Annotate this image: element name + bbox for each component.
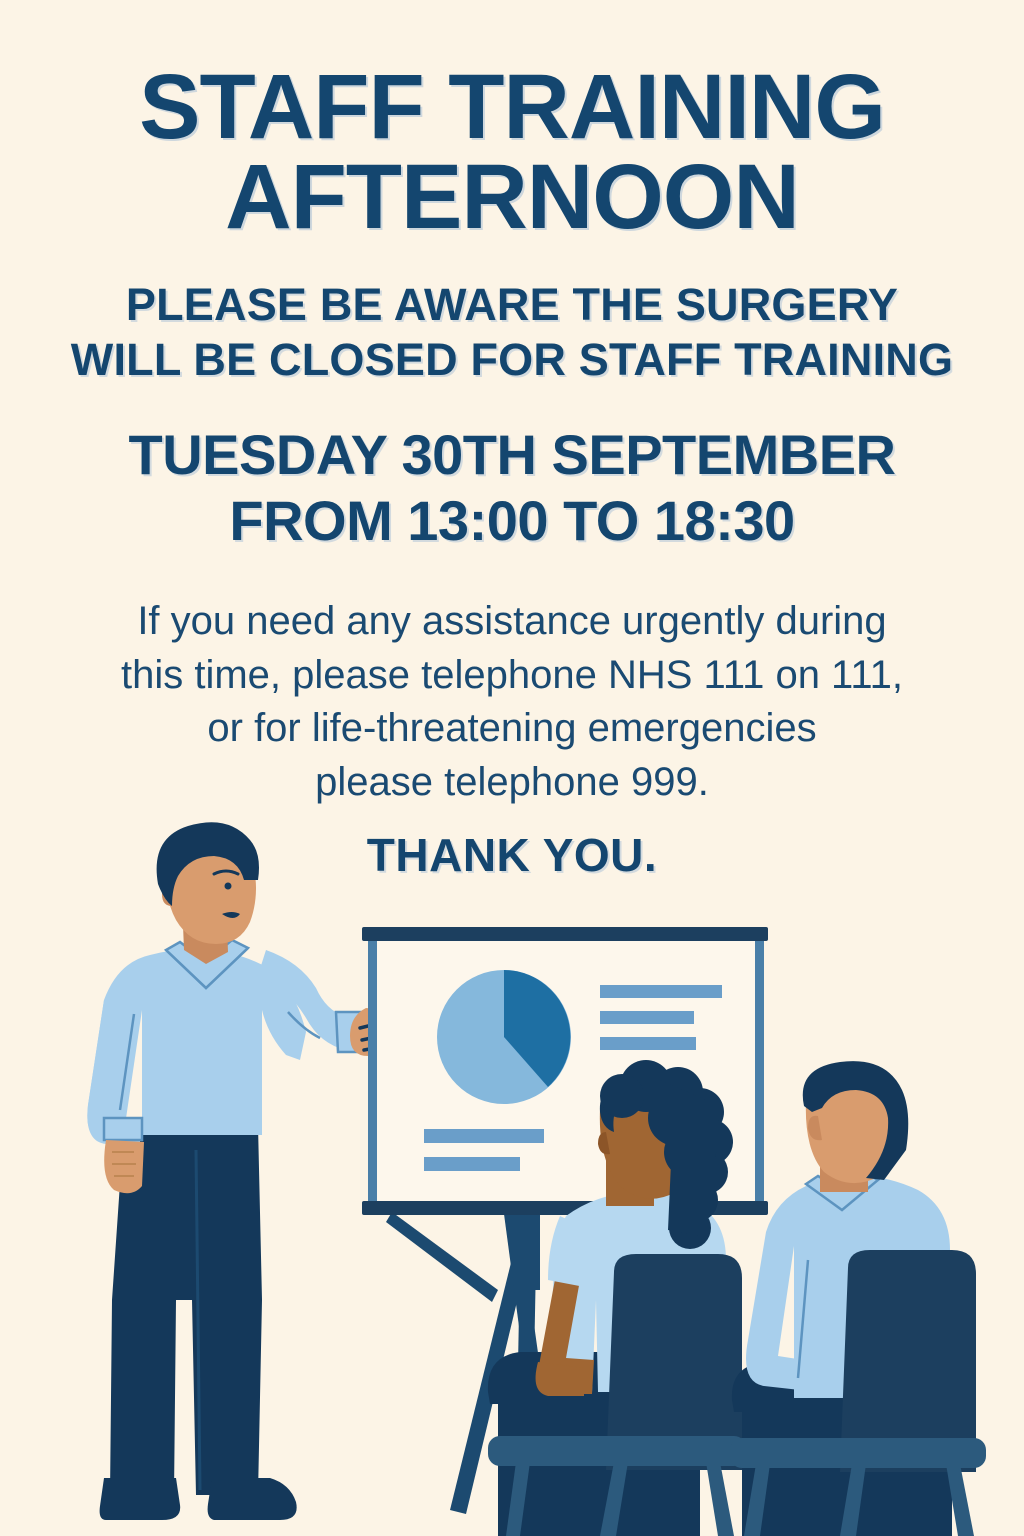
body-line-4: please telephone 999. (0, 756, 1024, 810)
page-title: STAFF TRAINING AFTERNOON (0, 0, 1024, 242)
board-text-bar-3 (600, 1037, 696, 1050)
woman-hand (536, 1362, 584, 1396)
pie-chart (437, 970, 571, 1104)
board-text-bar-2 (600, 1011, 694, 1024)
seated-man-chair-seat (730, 1438, 986, 1468)
whiteboard-rail-left (368, 938, 377, 1208)
body-line-2: this time, please telephone NHS 111 on 1… (0, 649, 1024, 703)
woman-chair-seat (488, 1436, 746, 1466)
date-time-heading: TUESDAY 30TH SEPTEMBER FROM 13:00 TO 18:… (0, 388, 1024, 553)
subtitle-line-1: PLEASE BE AWARE THE SURGERY (0, 278, 1024, 333)
tripod-brace-left (386, 1212, 498, 1302)
presenter-shoe-left (100, 1478, 181, 1520)
subtitle: PLEASE BE AWARE THE SURGERY WILL BE CLOS… (0, 242, 1024, 388)
board-text-bar-4 (424, 1129, 544, 1143)
title-line-1: STAFF TRAINING (0, 62, 1024, 152)
time-line: FROM 13:00 TO 18:30 (0, 488, 1024, 554)
whiteboard-rail-right (755, 938, 764, 1208)
body-paragraph: If you need any assistance urgently duri… (0, 553, 1024, 809)
title-line-2: AFTERNOON (0, 152, 1024, 242)
presenter-shoe-right (208, 1478, 297, 1520)
subtitle-line-2: WILL BE CLOSED FOR STAFF TRAINING (0, 333, 1024, 388)
presenter-eye (225, 883, 232, 890)
board-text-bar-5 (424, 1157, 520, 1171)
woman-chair-leg-back (706, 1462, 734, 1536)
poster-text-block: STAFF TRAINING AFTERNOON PLEASE BE AWARE… (0, 0, 1024, 810)
poster-root: STAFF TRAINING AFTERNOON PLEASE BE AWARE… (0, 0, 1024, 1536)
date-line: TUESDAY 30TH SEPTEMBER (0, 422, 1024, 488)
presenter-left-hand (104, 1140, 144, 1193)
seated-man-figure (730, 1061, 986, 1536)
board-text-bar-1 (600, 985, 722, 998)
presenter-left-cuff (104, 1118, 142, 1140)
whiteboard-top-rail (362, 927, 768, 941)
body-line-1: If you need any assistance urgently duri… (0, 595, 1024, 649)
body-line-3: or for life-threatening emergencies (0, 702, 1024, 756)
closing-thank-you: THANK YOU. (0, 828, 1024, 882)
